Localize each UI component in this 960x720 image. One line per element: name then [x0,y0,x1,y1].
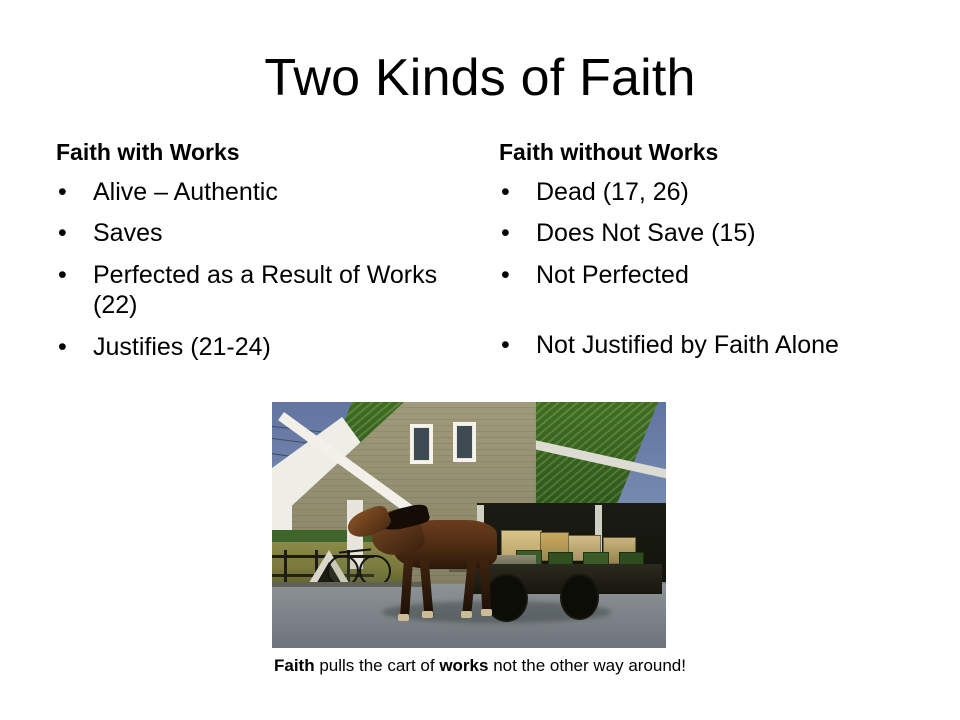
list-item: • Saves [56,218,476,249]
caption-bold-works: works [439,656,488,675]
list-item-label: Not Perfected [536,261,689,289]
photo-window [453,422,476,462]
list-item: • Not Perfected [499,260,949,291]
caption-text-2: not the other way around! [488,656,686,675]
list-item: • Perfected as a Result of Works (22) [56,260,476,321]
bullet-dot-icon: • [501,177,510,208]
bullet-dot-icon: • [501,260,510,291]
caption-bold-faith: Faith [274,656,315,675]
list-item: • Not Justified by Faith Alone [499,330,949,361]
photo-horse-hoof [481,609,492,616]
photo-window-pane [456,425,473,459]
list-item-label: Not Justified by Faith Alone [536,331,839,359]
photo-canvas [272,402,666,648]
bullet-dot-icon: • [58,332,67,363]
photo-horse-hoof [461,611,472,618]
list-item: • Alive – Authentic [56,177,476,208]
bullet-dot-icon: • [58,218,67,249]
list-item-label: Saves [93,219,162,247]
page-title: Two Kinds of Faith [0,50,960,107]
list-item: • Does Not Save (15) [499,218,949,249]
list-item-label: Dead (17, 26) [536,178,689,206]
bullet-dot-icon: • [58,260,67,291]
column-faith-with-works: Faith with Works • Alive – Authentic • S… [56,140,476,362]
column-left-bullet-list: • Alive – Authentic • Saves • Perfected … [56,177,476,363]
caption-text-1: pulls the cart of [315,656,440,675]
list-item-label: Alive – Authentic [93,178,278,206]
list-item-label: Justifies (21-24) [93,333,271,361]
list-item-label: Does Not Save (15) [536,219,756,247]
slide-photo [272,402,666,648]
list-item-label: Perfected as a Result of Works (22) [93,261,437,320]
slide: Two Kinds of Faith Faith with Works • Al… [0,0,960,720]
list-item: • Dead (17, 26) [499,177,949,208]
photo-window [410,424,433,464]
list-item: • Justifies (21-24) [56,332,476,363]
column-left-header: Faith with Works [56,140,476,166]
column-right-bullet-list: • Dead (17, 26) • Does Not Save (15) • N… [499,177,949,361]
photo-caption: Faith pulls the cart of works not the ot… [0,656,960,676]
photo-cart-wheel [560,574,599,620]
bullet-dot-icon: • [501,218,510,249]
photo-fence-post [284,550,287,584]
photo-horse-hoof [398,614,409,621]
bullet-dot-icon: • [501,330,510,361]
photo-horse-hoof [422,611,433,618]
bullet-dot-icon: • [58,177,67,208]
photo-window-pane [413,427,430,461]
list-item-spacer [499,301,949,319]
column-faith-without-works: Faith without Works • Dead (17, 26) • Do… [499,140,949,361]
column-right-header: Faith without Works [499,140,949,166]
